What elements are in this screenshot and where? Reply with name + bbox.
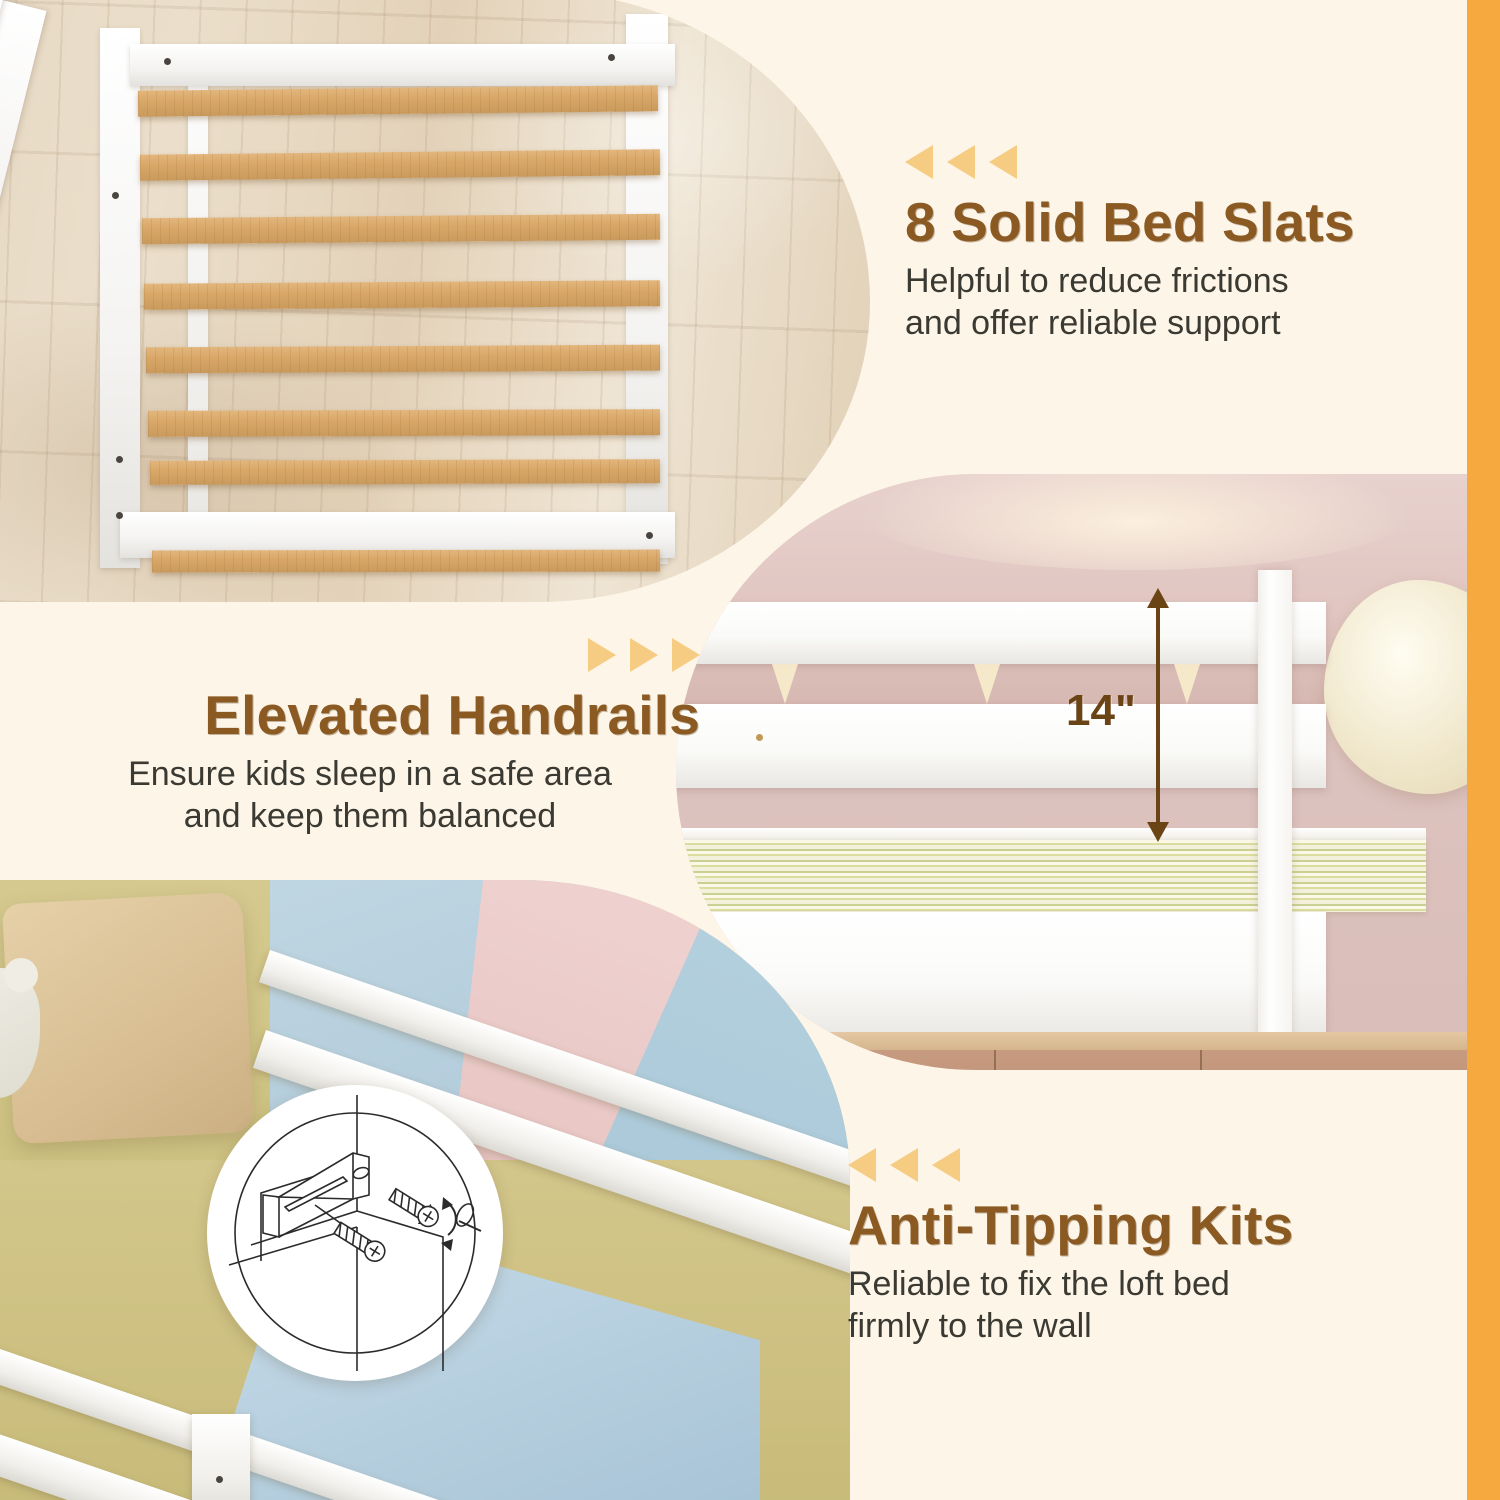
light-wedge (974, 664, 1000, 704)
feature-subtitle-line-1: Helpful to reduce frictions (905, 261, 1465, 302)
chevron-left-icon (932, 1148, 960, 1182)
guardrail-board-middle (676, 704, 1326, 788)
chevron-left-icon (989, 145, 1017, 179)
feature-title: Elevated Handrails (40, 686, 700, 744)
bed-slat (142, 214, 660, 245)
feature-subtitle-line-2: firmly to the wall (848, 1306, 1448, 1347)
arrow-head-down-icon (1147, 822, 1169, 842)
bed-slat (152, 550, 660, 573)
infographic-canvas: 14" (0, 0, 1500, 1500)
chevron-right-icon (672, 638, 700, 672)
feature-subtitle-line-1: Ensure kids sleep in a safe area (40, 754, 700, 795)
bed-slat (150, 459, 660, 485)
chevron-right-icon (630, 638, 658, 672)
screw-icon (164, 58, 171, 65)
right-edge-strip (1467, 0, 1500, 1500)
arrow-group-left (848, 1148, 1448, 1182)
screw-icon (112, 192, 119, 199)
guardrail-post (1258, 570, 1292, 1050)
arrow-group-right (40, 638, 700, 672)
screw-icon (646, 532, 653, 539)
bed-slat (148, 409, 660, 437)
chevron-left-icon (848, 1148, 876, 1182)
anti-tipping-bracket-callout (207, 1085, 503, 1381)
bed-slat (140, 149, 660, 180)
feature-title: 8 Solid Bed Slats (905, 193, 1465, 251)
screw-icon (116, 456, 123, 463)
bed-slat (146, 345, 660, 374)
chevron-left-icon (890, 1148, 918, 1182)
screw-icon (608, 54, 615, 61)
bed-slat (138, 85, 658, 116)
cabinet-divider (994, 1050, 996, 1070)
screw-icon (116, 512, 123, 519)
chevron-right-icon (588, 638, 616, 672)
screw-icon (216, 1476, 223, 1483)
feature-subtitle-line-2: and keep them balanced (40, 796, 700, 837)
feature-title: Anti-Tipping Kits (848, 1196, 1448, 1254)
screw-icon (756, 734, 763, 741)
arrow-group-left (905, 145, 1465, 179)
teddy-bear-ear (4, 958, 38, 992)
chevron-left-icon (947, 145, 975, 179)
feature-block-elevated-handrails: Elevated Handrails Ensure kids sleep in … (40, 638, 700, 837)
feature-block-bed-slats: 8 Solid Bed Slats Helpful to reduce fric… (905, 145, 1465, 344)
light-wedge (772, 664, 798, 704)
feature-subtitle-line-2: and offer reliable support (905, 303, 1465, 344)
guardrail-board-top (676, 602, 1326, 664)
bed-slat (144, 280, 660, 310)
bracket-diagram-icon (207, 1085, 503, 1381)
measurement-label-gap (1120, 688, 1200, 744)
mattress-edge (676, 828, 1426, 840)
bed-frame-head (130, 44, 675, 86)
bed-frame-rail-left (100, 28, 140, 568)
feature-block-anti-tipping-kits: Anti-Tipping Kits Reliable to fix the lo… (848, 1148, 1448, 1347)
feature-subtitle-line-1: Reliable to fix the loft bed (848, 1264, 1448, 1305)
chevron-left-icon (905, 145, 933, 179)
cabinet-divider (1200, 1050, 1202, 1070)
bed-post (192, 1414, 250, 1500)
